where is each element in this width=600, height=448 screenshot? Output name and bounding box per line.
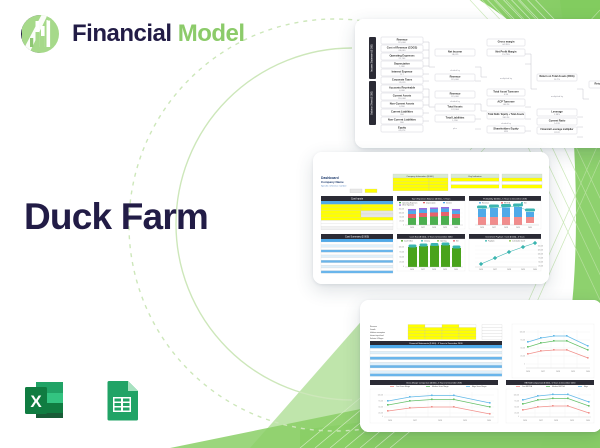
excel-icon[interactable]: X bbox=[22, 378, 66, 422]
svg-text:2029: 2029 bbox=[516, 227, 520, 229]
svg-text:Return on Total Assets (ROA): Return on Total Assets (ROA) bbox=[539, 75, 574, 78]
svg-text:2027: 2027 bbox=[421, 269, 425, 271]
reports-charts-card[interactable]: Revenue Growth Inflation assumption Inte… bbox=[360, 300, 600, 432]
brand-word-model: Model bbox=[178, 20, 245, 47]
svg-text:Balance Sheet ($ 000): Balance Sheet ($ 000) bbox=[371, 91, 374, 115]
svg-text:Payback: Payback bbox=[488, 240, 495, 242]
svg-text:1,200: 1,200 bbox=[452, 120, 458, 122]
svg-text:EBITDA: EBITDA bbox=[504, 201, 511, 204]
svg-text:Total Debt / Equity + Total As: Total Debt / Equity + Total Assets bbox=[488, 113, 525, 116]
svg-text:2029: 2029 bbox=[443, 227, 447, 229]
svg-text:75,000: 75,000 bbox=[378, 401, 383, 403]
svg-text:963.24: 963.24 bbox=[503, 117, 510, 119]
svg-text:Revenue: Revenue bbox=[450, 91, 461, 95]
svg-text:Total Assets: Total Assets bbox=[447, 104, 463, 108]
svg-text:75,000: 75,000 bbox=[520, 340, 525, 342]
svg-text:Closing: Closing bbox=[424, 240, 430, 242]
svg-text:97.22: 97.22 bbox=[554, 132, 560, 134]
svg-text:50,000: 50,000 bbox=[538, 262, 543, 264]
svg-text:Financial Statements ($ 000) -: Financial Statements ($ 000) - 5 Years t… bbox=[409, 342, 463, 345]
svg-text:multiplied by: multiplied by bbox=[551, 95, 564, 98]
svg-text:2028: 2028 bbox=[554, 420, 558, 422]
svg-text:Accounts Receivable: Accounts Receivable bbox=[389, 85, 416, 89]
svg-text:12,019: 12,019 bbox=[399, 82, 406, 84]
file-format-icons: X bbox=[22, 378, 144, 422]
financial-dashboard-preview: Dashboard Company Name Specific referenc… bbox=[313, 152, 549, 284]
svg-text:Top 5 Expenses Balance ($ 000): Top 5 Expenses Balance ($ 000) - 5 Years bbox=[412, 198, 451, 201]
svg-text:Inflation assumption: Inflation assumption bbox=[370, 331, 385, 334]
svg-text:2029: 2029 bbox=[570, 420, 574, 422]
svg-text:Depreciation: Depreciation bbox=[426, 201, 436, 204]
svg-text:50,000: 50,000 bbox=[399, 257, 404, 259]
svg-text:2028: 2028 bbox=[432, 269, 436, 271]
svg-text:Financial Leverage multiplier: Financial Leverage multiplier bbox=[541, 128, 574, 131]
svg-text:2028: 2028 bbox=[432, 227, 436, 229]
svg-text:Edge Gross Margin: Edge Gross Margin bbox=[472, 385, 487, 388]
svg-text:2028: 2028 bbox=[507, 269, 511, 271]
svg-text:Company Name: Company Name bbox=[321, 180, 344, 184]
chart-ebitda-comparison: EBITDA Comparison ($ 000) - 5 Years to D… bbox=[506, 380, 594, 423]
svg-text:Non-Current Liabilities: Non-Current Liabilities bbox=[388, 117, 417, 121]
svg-text:25,000: 25,000 bbox=[399, 262, 404, 264]
svg-text:2026: 2026 bbox=[410, 227, 414, 229]
svg-text:2027: 2027 bbox=[493, 269, 497, 271]
svg-text:Current Ratio: Current Ratio bbox=[549, 118, 566, 122]
svg-text:Interest Expense: Interest Expense bbox=[392, 69, 413, 73]
svg-text:EBITDA Comparison ($ 000) - 5: EBITDA Comparison ($ 000) - 5 Years to D… bbox=[525, 382, 577, 385]
svg-text:25,000: 25,000 bbox=[399, 221, 404, 223]
svg-text:Cash Inflow: Cash Inflow bbox=[404, 240, 414, 242]
svg-text:21,744: 21,744 bbox=[399, 58, 406, 60]
svg-text:Leverage: Leverage bbox=[551, 109, 563, 113]
svg-text:Medium Gross Margin: Medium Gross Margin bbox=[432, 385, 449, 388]
svg-text:2026: 2026 bbox=[523, 420, 527, 422]
svg-text:Total Liabilities: Total Liabilities bbox=[446, 115, 465, 119]
svg-text:100,000: 100,000 bbox=[399, 213, 405, 215]
svg-text:1,380: 1,380 bbox=[399, 66, 405, 68]
brand-wordmark: Financial Model bbox=[72, 20, 245, 48]
brand-logo: Financial Model bbox=[18, 12, 245, 56]
svg-text:2026: 2026 bbox=[410, 269, 414, 271]
svg-text:2027: 2027 bbox=[539, 420, 543, 422]
svg-text:Current Assets: Current Assets bbox=[393, 93, 412, 97]
svg-text:50,000: 50,000 bbox=[520, 348, 525, 350]
svg-text:2026: 2026 bbox=[480, 227, 484, 229]
svg-text:115,000: 115,000 bbox=[451, 79, 460, 81]
svg-text:Gross Margin Comparison ($ 000: Gross Margin Comparison ($ 000) - 5 Year… bbox=[406, 382, 463, 385]
svg-text:Cash flow ($ 000) - 5 Years to: Cash flow ($ 000) - 5 Years to December … bbox=[410, 236, 454, 239]
svg-text:6,900: 6,900 bbox=[399, 106, 405, 108]
svg-text:50,000: 50,000 bbox=[399, 217, 404, 219]
svg-text:Operating Expenses: Operating Expenses bbox=[389, 53, 415, 57]
svg-text:Depreciation: Depreciation bbox=[394, 61, 410, 65]
svg-text:Opening: Opening bbox=[440, 240, 446, 242]
svg-text:75,000: 75,000 bbox=[399, 252, 404, 254]
svg-text:divided by: divided by bbox=[450, 101, 461, 103]
chart-profitability: Profitability ($ 000) - 5 Years to Decem… bbox=[469, 196, 541, 229]
svg-text:100,000: 100,000 bbox=[514, 395, 520, 397]
svg-text:2027: 2027 bbox=[413, 420, 417, 422]
svg-text:18,015: 18,015 bbox=[452, 54, 459, 56]
svg-text:Cost of Revenue (COGS): Cost of Revenue (COGS) bbox=[387, 45, 418, 49]
svg-text:Specific reference number: Specific reference number bbox=[321, 185, 347, 188]
svg-text:2026: 2026 bbox=[479, 269, 483, 271]
svg-text:Shareholders Equity: Shareholders Equity bbox=[493, 126, 519, 130]
svg-text:Gross margin: Gross margin bbox=[498, 39, 515, 43]
page-title: Duck Farm bbox=[24, 196, 208, 238]
financial-dashboard-card[interactable]: Dashboard Company Name Specific referenc… bbox=[313, 152, 549, 284]
svg-text:Key Indicators: Key Indicators bbox=[468, 175, 481, 178]
svg-text:2030: 2030 bbox=[487, 420, 491, 422]
svg-text:2028: 2028 bbox=[438, 420, 442, 422]
svg-text:2026: 2026 bbox=[526, 371, 530, 373]
slide-canvas: Financial Model Duck Farm X bbox=[0, 0, 600, 448]
svg-text:Return on Equity (ROE): Return on Equity (ROE) bbox=[595, 81, 600, 85]
chart-cash-flow: Cash flow ($ 000) - 5 Years to December … bbox=[397, 234, 465, 271]
svg-text:122,900: 122,900 bbox=[451, 109, 460, 111]
reports-charts-preview: Revenue Growth Inflation assumption Inte… bbox=[360, 300, 600, 432]
svg-text:44.35%: 44.35% bbox=[502, 44, 509, 46]
svg-text:Net Profit Margin: Net Profit Margin bbox=[496, 49, 517, 53]
svg-text:2030: 2030 bbox=[454, 227, 458, 229]
svg-text:100,000: 100,000 bbox=[520, 332, 526, 334]
svg-text:75,000: 75,000 bbox=[514, 401, 519, 403]
svg-text:50,000: 50,000 bbox=[514, 407, 519, 409]
svg-text:150,000: 150,000 bbox=[538, 246, 544, 248]
svg-text:62,074: 62,074 bbox=[399, 130, 406, 132]
svg-text:2028: 2028 bbox=[556, 371, 560, 373]
svg-text:Profitability ($ 000) - 5 Year: Profitability ($ 000) - 5 Years to Decem… bbox=[483, 198, 528, 201]
svg-text:Cost EBITDA: Cost EBITDA bbox=[522, 385, 533, 388]
svg-text:2026: 2026 bbox=[388, 420, 392, 422]
svg-text:25,000: 25,000 bbox=[538, 266, 543, 268]
dupont-flowchart-preview: Income Statement ($ 000) Balance Sheet (… bbox=[355, 19, 600, 148]
svg-text:Cost Summary ($ 000): Cost Summary ($ 000) bbox=[345, 236, 369, 239]
svg-text:Investment Payback / Cost ($ 0: Investment Payback / Cost ($ 000) - 5 Ye… bbox=[485, 236, 524, 239]
svg-text:2029: 2029 bbox=[463, 420, 467, 422]
svg-text:2029: 2029 bbox=[443, 269, 447, 271]
svg-text:25,000: 25,000 bbox=[514, 413, 519, 415]
svg-text:14.28: 14.28 bbox=[554, 123, 560, 125]
svg-text:Cumulative Cash: Cumulative Cash bbox=[512, 239, 525, 242]
svg-text:2030: 2030 bbox=[586, 371, 590, 373]
svg-text:Revenue: Revenue bbox=[370, 326, 377, 328]
svg-text:Growth: Growth bbox=[370, 328, 376, 331]
svg-text:Net Income: Net Income bbox=[448, 49, 463, 53]
svg-text:Equity: Equity bbox=[398, 125, 406, 129]
svg-text:Revenue: Revenue bbox=[397, 37, 408, 41]
svg-text:Cost Gross Margin: Cost Gross Margin bbox=[396, 385, 410, 388]
svg-text:2027: 2027 bbox=[421, 227, 425, 229]
svg-text:100,000: 100,000 bbox=[378, 395, 384, 397]
chart-investment-payback: Investment Payback / Cost ($ 000) - 5 Ye… bbox=[469, 234, 543, 271]
svg-text:15.73%: 15.73% bbox=[502, 54, 509, 56]
svg-text:Medium EBITDA: Medium EBITDA bbox=[552, 385, 565, 388]
svg-text:2029: 2029 bbox=[571, 371, 575, 373]
circle-bar-chart-logo-icon bbox=[18, 12, 62, 56]
svg-text:Revenue: Revenue bbox=[482, 202, 489, 204]
svg-text:2027: 2027 bbox=[541, 371, 545, 373]
svg-text:125,000: 125,000 bbox=[538, 250, 544, 252]
chart-revenue-expenses: 20262027202820292030 100,00075,00050,000… bbox=[512, 324, 594, 378]
dupont-analysis-flowchart-card[interactable]: Income Statement ($ 000) Balance Sheet (… bbox=[355, 19, 600, 148]
svg-text:2029: 2029 bbox=[521, 269, 525, 271]
svg-text:100,000: 100,000 bbox=[538, 254, 544, 256]
svg-text:Company Information ($ 000): Company Information ($ 000) bbox=[406, 175, 433, 178]
svg-text:Current Liabilities: Current Liabilities bbox=[391, 109, 414, 113]
svg-text:2027: 2027 bbox=[492, 227, 496, 229]
chart-top5-expenses: Top 5 Expenses Balance ($ 000) - 5 Years… bbox=[397, 196, 465, 229]
svg-text:75,000: 75,000 bbox=[538, 258, 543, 260]
svg-text:Edge: Edge bbox=[584, 386, 588, 388]
svg-text:Cost Inputs: Cost Inputs bbox=[351, 198, 364, 201]
svg-text:Interest input level: Interest input level bbox=[370, 334, 384, 337]
svg-text:50,000: 50,000 bbox=[378, 407, 383, 409]
svg-text:Interest: Interest bbox=[446, 201, 452, 204]
svg-text:1.98%: 1.98% bbox=[554, 114, 560, 116]
svg-text:Income Statement ($ 000): Income Statement ($ 000) bbox=[371, 44, 374, 72]
svg-text:divided by: divided by bbox=[501, 123, 512, 125]
svg-text:25,000: 25,000 bbox=[378, 413, 383, 415]
svg-text:Revenue: Revenue bbox=[450, 74, 461, 78]
svg-text:multiplied by: multiplied by bbox=[500, 77, 513, 80]
svg-text:2028: 2028 bbox=[504, 227, 508, 229]
svg-text:Corporate Taxes: Corporate Taxes bbox=[392, 77, 413, 81]
svg-text:2030: 2030 bbox=[454, 269, 458, 271]
svg-text:X: X bbox=[30, 392, 42, 411]
svg-text:divided by: divided by bbox=[450, 70, 461, 72]
svg-text:115,000: 115,000 bbox=[398, 42, 407, 44]
brand-word-financial: Financial bbox=[72, 20, 172, 47]
svg-text:150,000: 150,000 bbox=[399, 209, 405, 211]
svg-text:2030: 2030 bbox=[533, 269, 537, 271]
google-sheets-icon[interactable] bbox=[100, 378, 144, 422]
svg-text:104.24: 104.24 bbox=[503, 104, 510, 106]
svg-text:25,000: 25,000 bbox=[520, 356, 525, 358]
svg-text:2030: 2030 bbox=[528, 227, 532, 229]
svg-text:2030: 2030 bbox=[586, 420, 590, 422]
svg-text:100,000: 100,000 bbox=[399, 247, 405, 249]
svg-text:Salaries & Wages: Salaries & Wages bbox=[370, 337, 384, 340]
svg-text:116,000: 116,000 bbox=[398, 98, 407, 100]
svg-text:14.7%: 14.7% bbox=[554, 79, 560, 81]
svg-text:Total Asset Turnover: Total Asset Turnover bbox=[493, 89, 518, 93]
svg-text:Other Expenses: Other Expenses bbox=[402, 204, 414, 207]
svg-text:64,000: 64,000 bbox=[399, 50, 406, 52]
svg-text:ACP Turnover: ACP Turnover bbox=[497, 99, 514, 103]
svg-text:115,000: 115,000 bbox=[451, 96, 460, 98]
svg-text:Non-Current Assets: Non-Current Assets bbox=[390, 101, 415, 105]
svg-text:6,000: 6,000 bbox=[399, 90, 405, 92]
